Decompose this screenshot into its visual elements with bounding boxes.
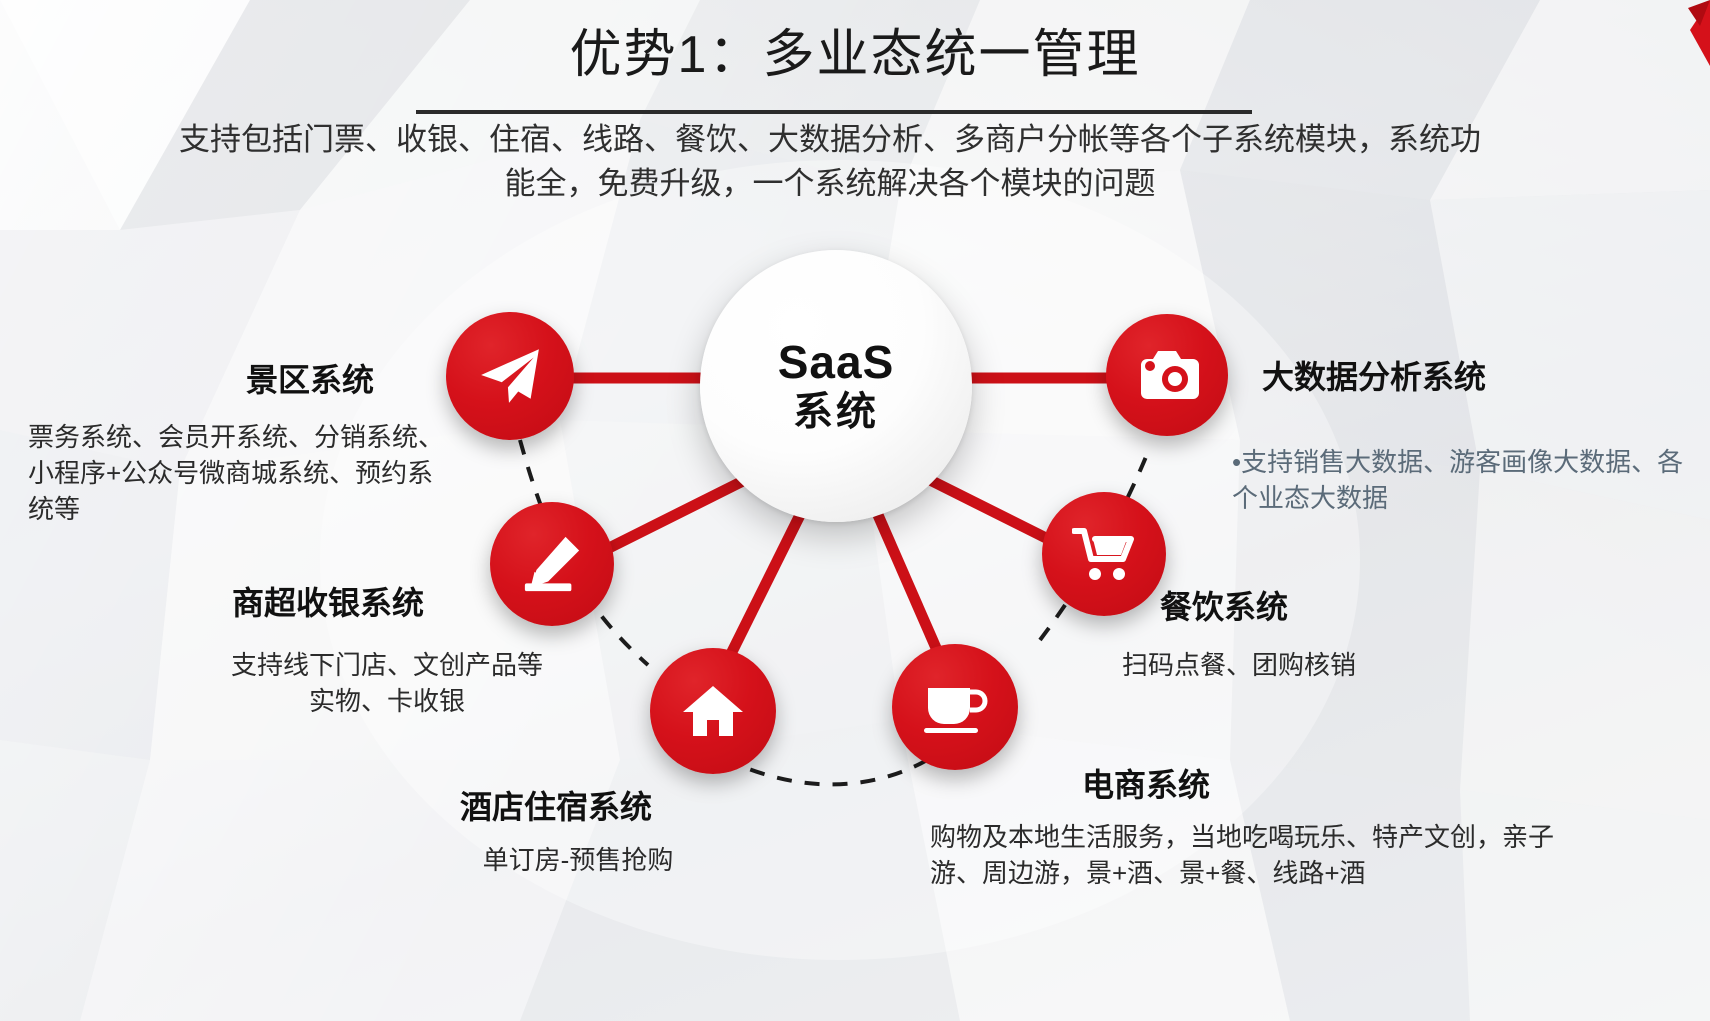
label-desc-retail-pos: 支持线下门店、文创产品等实物、卡收银 [222, 648, 552, 720]
coffee-cup-icon [922, 680, 988, 734]
label-desc-ecommerce: 购物及本地生活服务，当地吃喝玩乐、特产文创，亲子游、周边游，景+酒、景+餐、线路… [930, 820, 1600, 892]
label-desc-scenic: 票务系统、会员开系统、分销系统、小程序+公众号微商城系统、预约系统等 [28, 420, 458, 528]
slide-canvas: 优势1：多业态统一管理 支持包括门票、收银、住宿、线路、餐饮、大数据分析、多商户… [0, 0, 1710, 1021]
node-hotel[interactable] [650, 648, 776, 774]
node-retail-pos[interactable] [490, 502, 614, 626]
label-desc-hotel: 单订房-预售抢购 [438, 843, 718, 879]
node-catering[interactable] [1042, 492, 1166, 616]
shopping-cart-icon [1072, 525, 1136, 583]
house-icon [681, 682, 745, 740]
node-ecommerce[interactable] [892, 644, 1018, 770]
label-desc-bigdata: •支持销售大数据、游客画像大数据、各个业态大数据 [1232, 445, 1702, 517]
hub-saas-node[interactable]: SaaS 系统 [700, 250, 972, 522]
paper-plane-icon [477, 343, 543, 409]
pen-card-icon [521, 533, 583, 595]
hub-label-line1: SaaS [778, 337, 895, 389]
label-desc-catering: 扫码点餐、团购核销 [1122, 648, 1542, 684]
label-heading-ecommerce: 电商系统 [1082, 760, 1210, 806]
hub-label-line2: 系统 [793, 389, 879, 435]
label-heading-retail-pos: 商超收银系统 [232, 578, 424, 624]
node-bigdata[interactable] [1106, 314, 1228, 436]
label-heading-hotel: 酒店住宿系统 [460, 782, 652, 828]
label-heading-bigdata: 大数据分析系统 [1262, 352, 1486, 398]
camera-icon [1135, 347, 1199, 403]
label-heading-catering: 餐饮系统 [1160, 582, 1288, 628]
node-scenic[interactable] [446, 312, 574, 440]
label-heading-scenic: 景区系统 [246, 355, 374, 401]
